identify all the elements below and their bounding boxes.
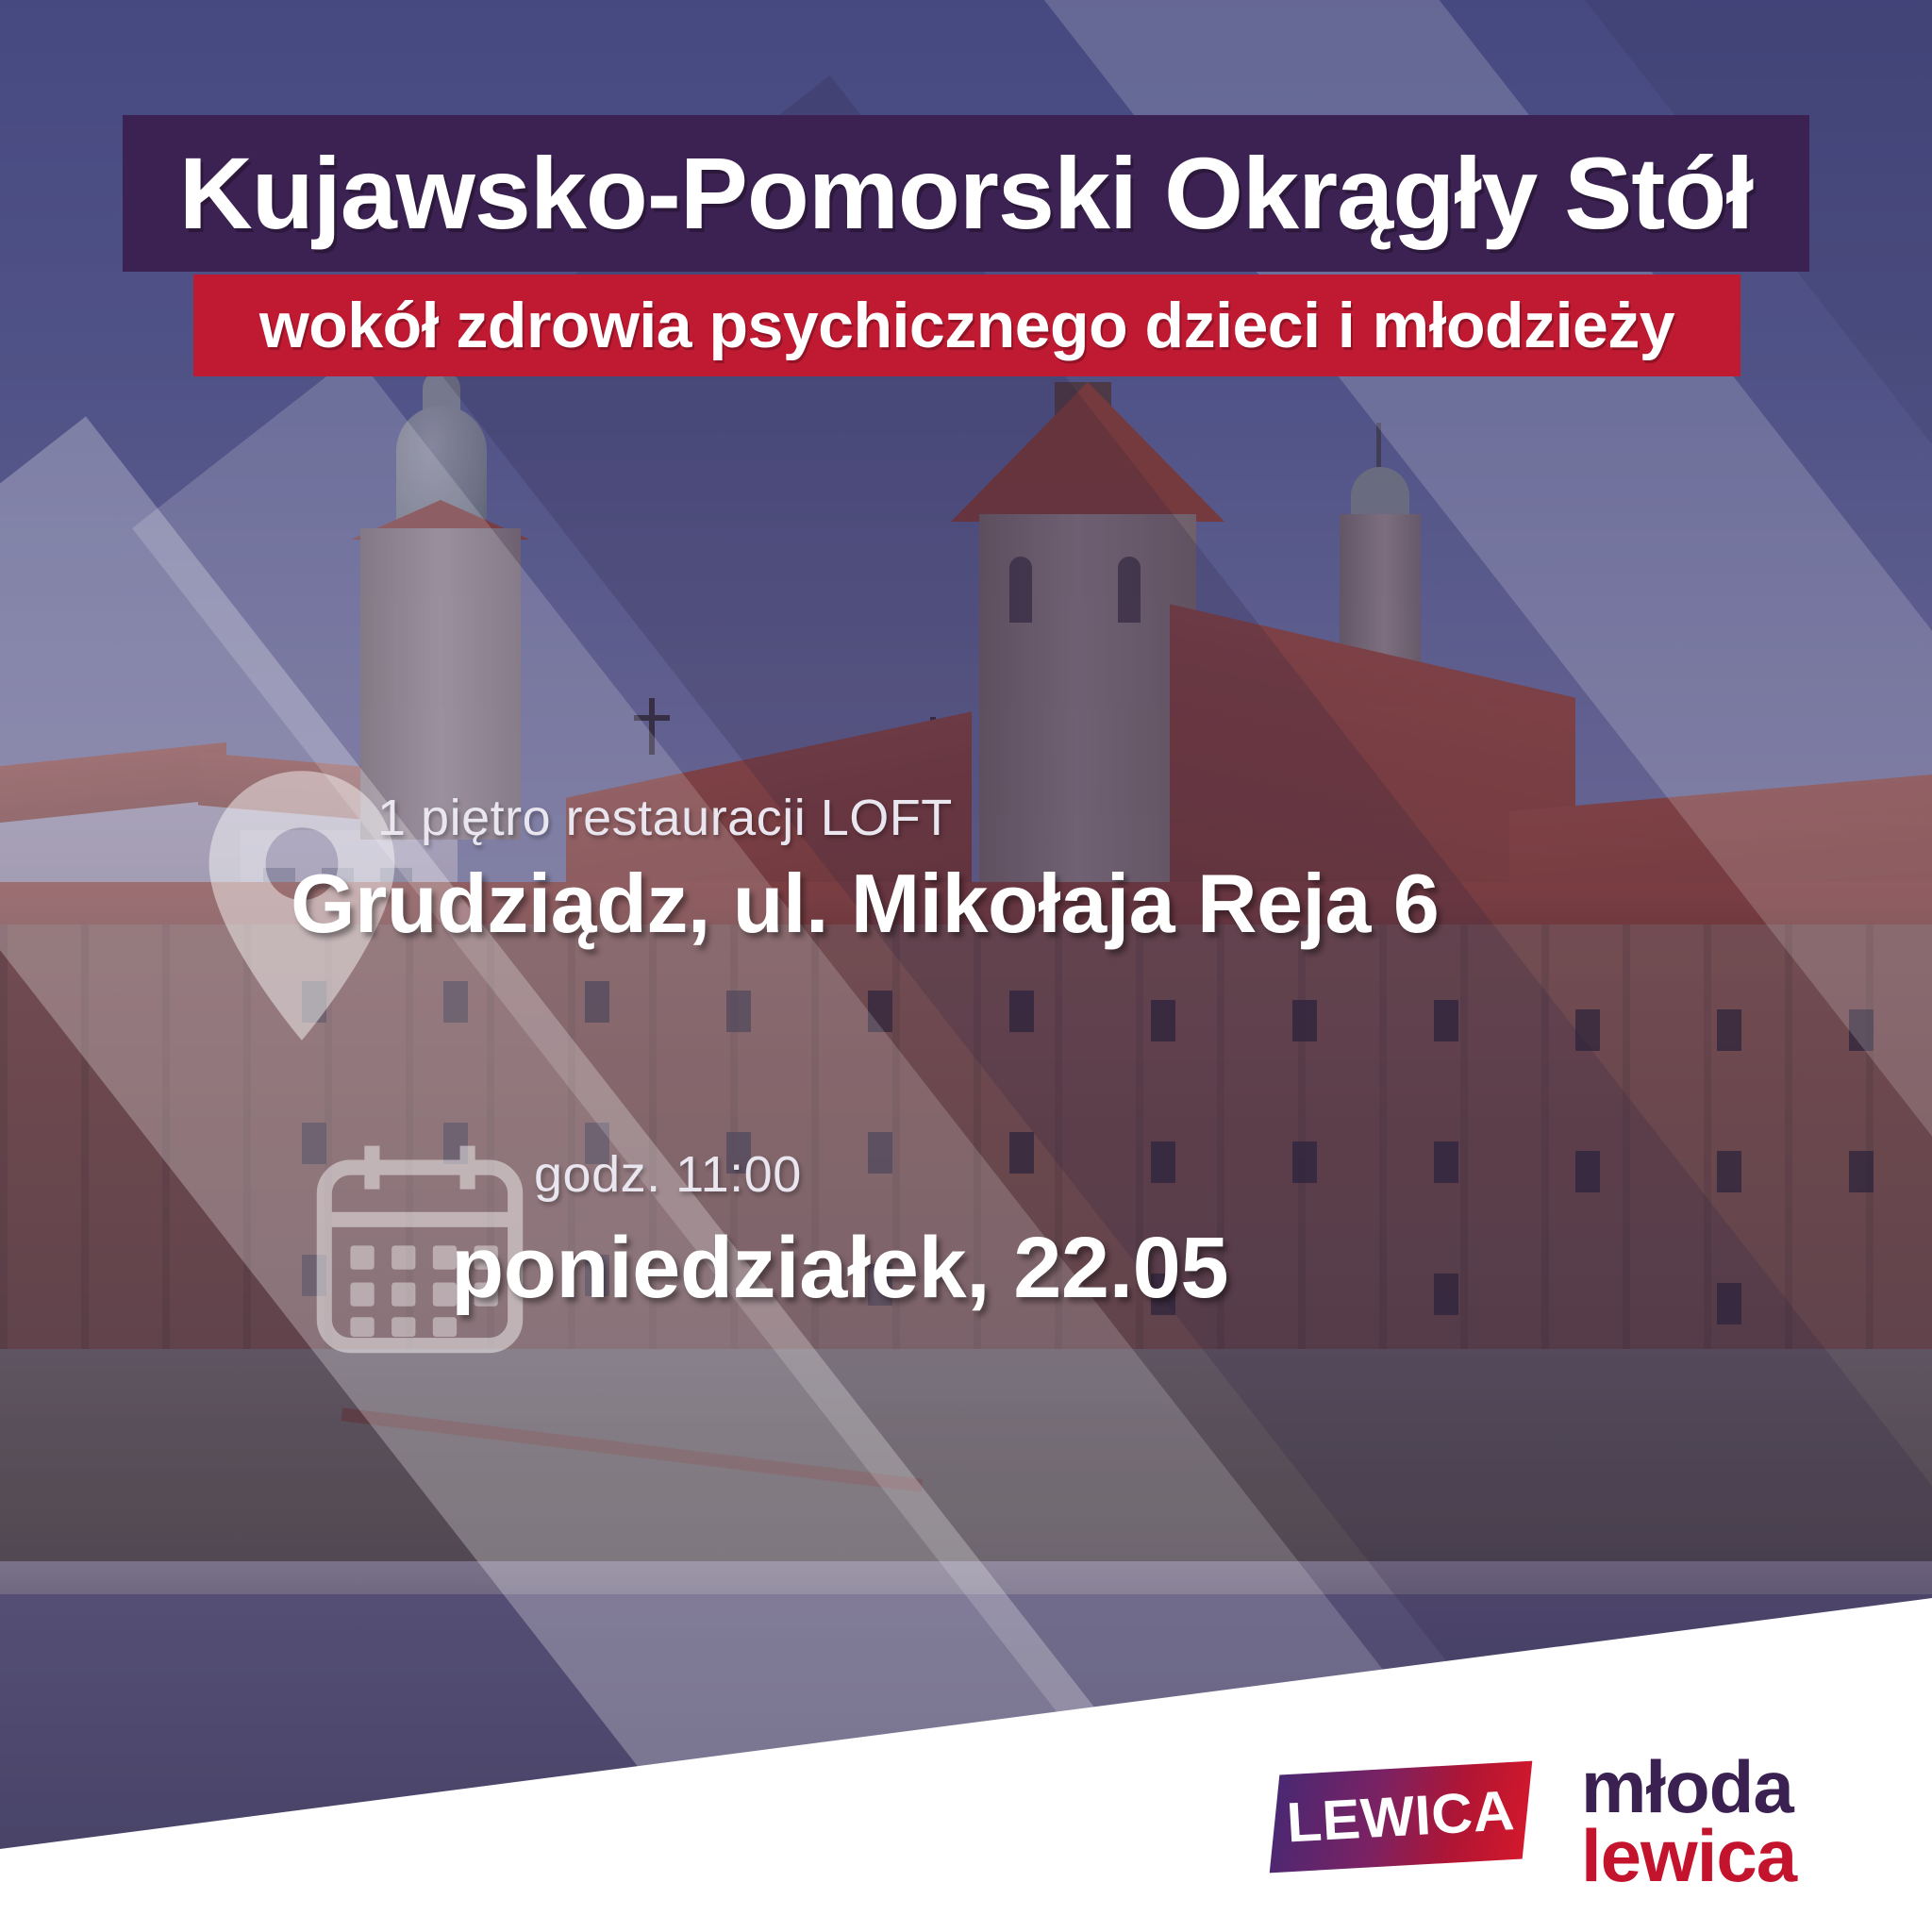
mloda-lewica-line1: młoda: [1581, 1753, 1796, 1822]
venue-detail: 1 piętro restauracji LOFT: [377, 792, 1726, 843]
title-banner: Kujawsko-Pomorski Okrągły Stół: [123, 115, 1809, 272]
page-subtitle: wokół zdrowia psychicznego dzieci i młod…: [259, 293, 1674, 358]
mloda-lewica-line2: lewica: [1581, 1822, 1796, 1890]
mloda-lewica-logo[interactable]: młoda lewica: [1581, 1753, 1796, 1890]
page-title: Kujawsko-Pomorski Okrągły Stół: [179, 142, 1753, 244]
event-date: poniedziałek, 22.05: [451, 1223, 1641, 1314]
logo-row: LEWICA młoda lewica: [1275, 1753, 1898, 1932]
subtitle-banner: wokół zdrowia psychicznego dzieci i młod…: [193, 275, 1740, 376]
datetime-block: godz. 11:00 poniedziałek, 22.05: [321, 1149, 1641, 1314]
event-time: godz. 11:00: [534, 1149, 1641, 1200]
lewica-logo[interactable]: LEWICA: [1270, 1761, 1533, 1874]
lewica-logo-text: LEWICA: [1286, 1783, 1517, 1852]
location-block: 1 piętro restauracji LOFT Grudziądz, ul.…: [217, 792, 1726, 947]
poster-canvas: Kujawsko-Pomorski Okrągły Stół wokół zdr…: [0, 0, 1932, 1932]
venue-address: Grudziądz, ul. Mikołaja Reja 6: [291, 860, 1726, 947]
